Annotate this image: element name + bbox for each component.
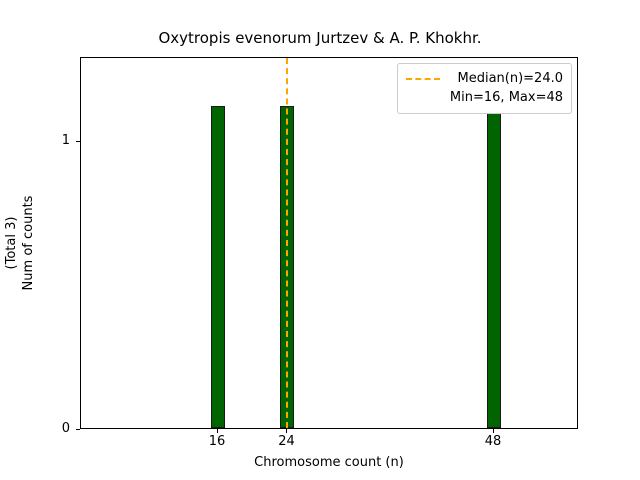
y-axis-label: (Total 3) Num of counts — [0, 57, 40, 429]
bar-16 — [211, 106, 225, 428]
xtick-label-48: 48 — [463, 434, 523, 450]
y-axis-label-line1: Num of counts — [20, 196, 37, 291]
chart-figure: Oxytropis evenorum Jurtzev & A. P. Khokh… — [0, 0, 640, 480]
legend-label-minmax: Min=16, Max=48 — [440, 88, 563, 107]
bar-48 — [487, 106, 501, 428]
xtick-label-16: 16 — [187, 434, 247, 450]
median-line — [286, 58, 288, 428]
legend: Median(n)=24.0 Min=16, Max=48 — [397, 63, 572, 114]
legend-entry-minmax: Min=16, Max=48 — [406, 88, 563, 107]
legend-label-median: Median(n)=24.0 — [440, 69, 563, 88]
page-title: Oxytropis evenorum Jurtzev & A. P. Khokh… — [0, 29, 640, 47]
xtick-mark-16 — [217, 429, 218, 433]
y-axis-label-wrap: (Total 3) Num of counts — [0, 0, 40, 480]
legend-entry-median: Median(n)=24.0 — [406, 69, 563, 88]
legend-handle-empty — [406, 88, 440, 107]
dashed-line-icon — [406, 69, 440, 88]
ytick-mark-0 — [76, 429, 80, 430]
y-axis-label-line2: (Total 3) — [3, 217, 20, 270]
xtick-mark-48 — [493, 429, 494, 433]
x-axis-label: Chromosome count (n) — [80, 455, 578, 471]
ytick-mark-1 — [76, 141, 80, 142]
xtick-mark-24 — [286, 429, 287, 433]
xtick-label-24: 24 — [257, 434, 317, 450]
